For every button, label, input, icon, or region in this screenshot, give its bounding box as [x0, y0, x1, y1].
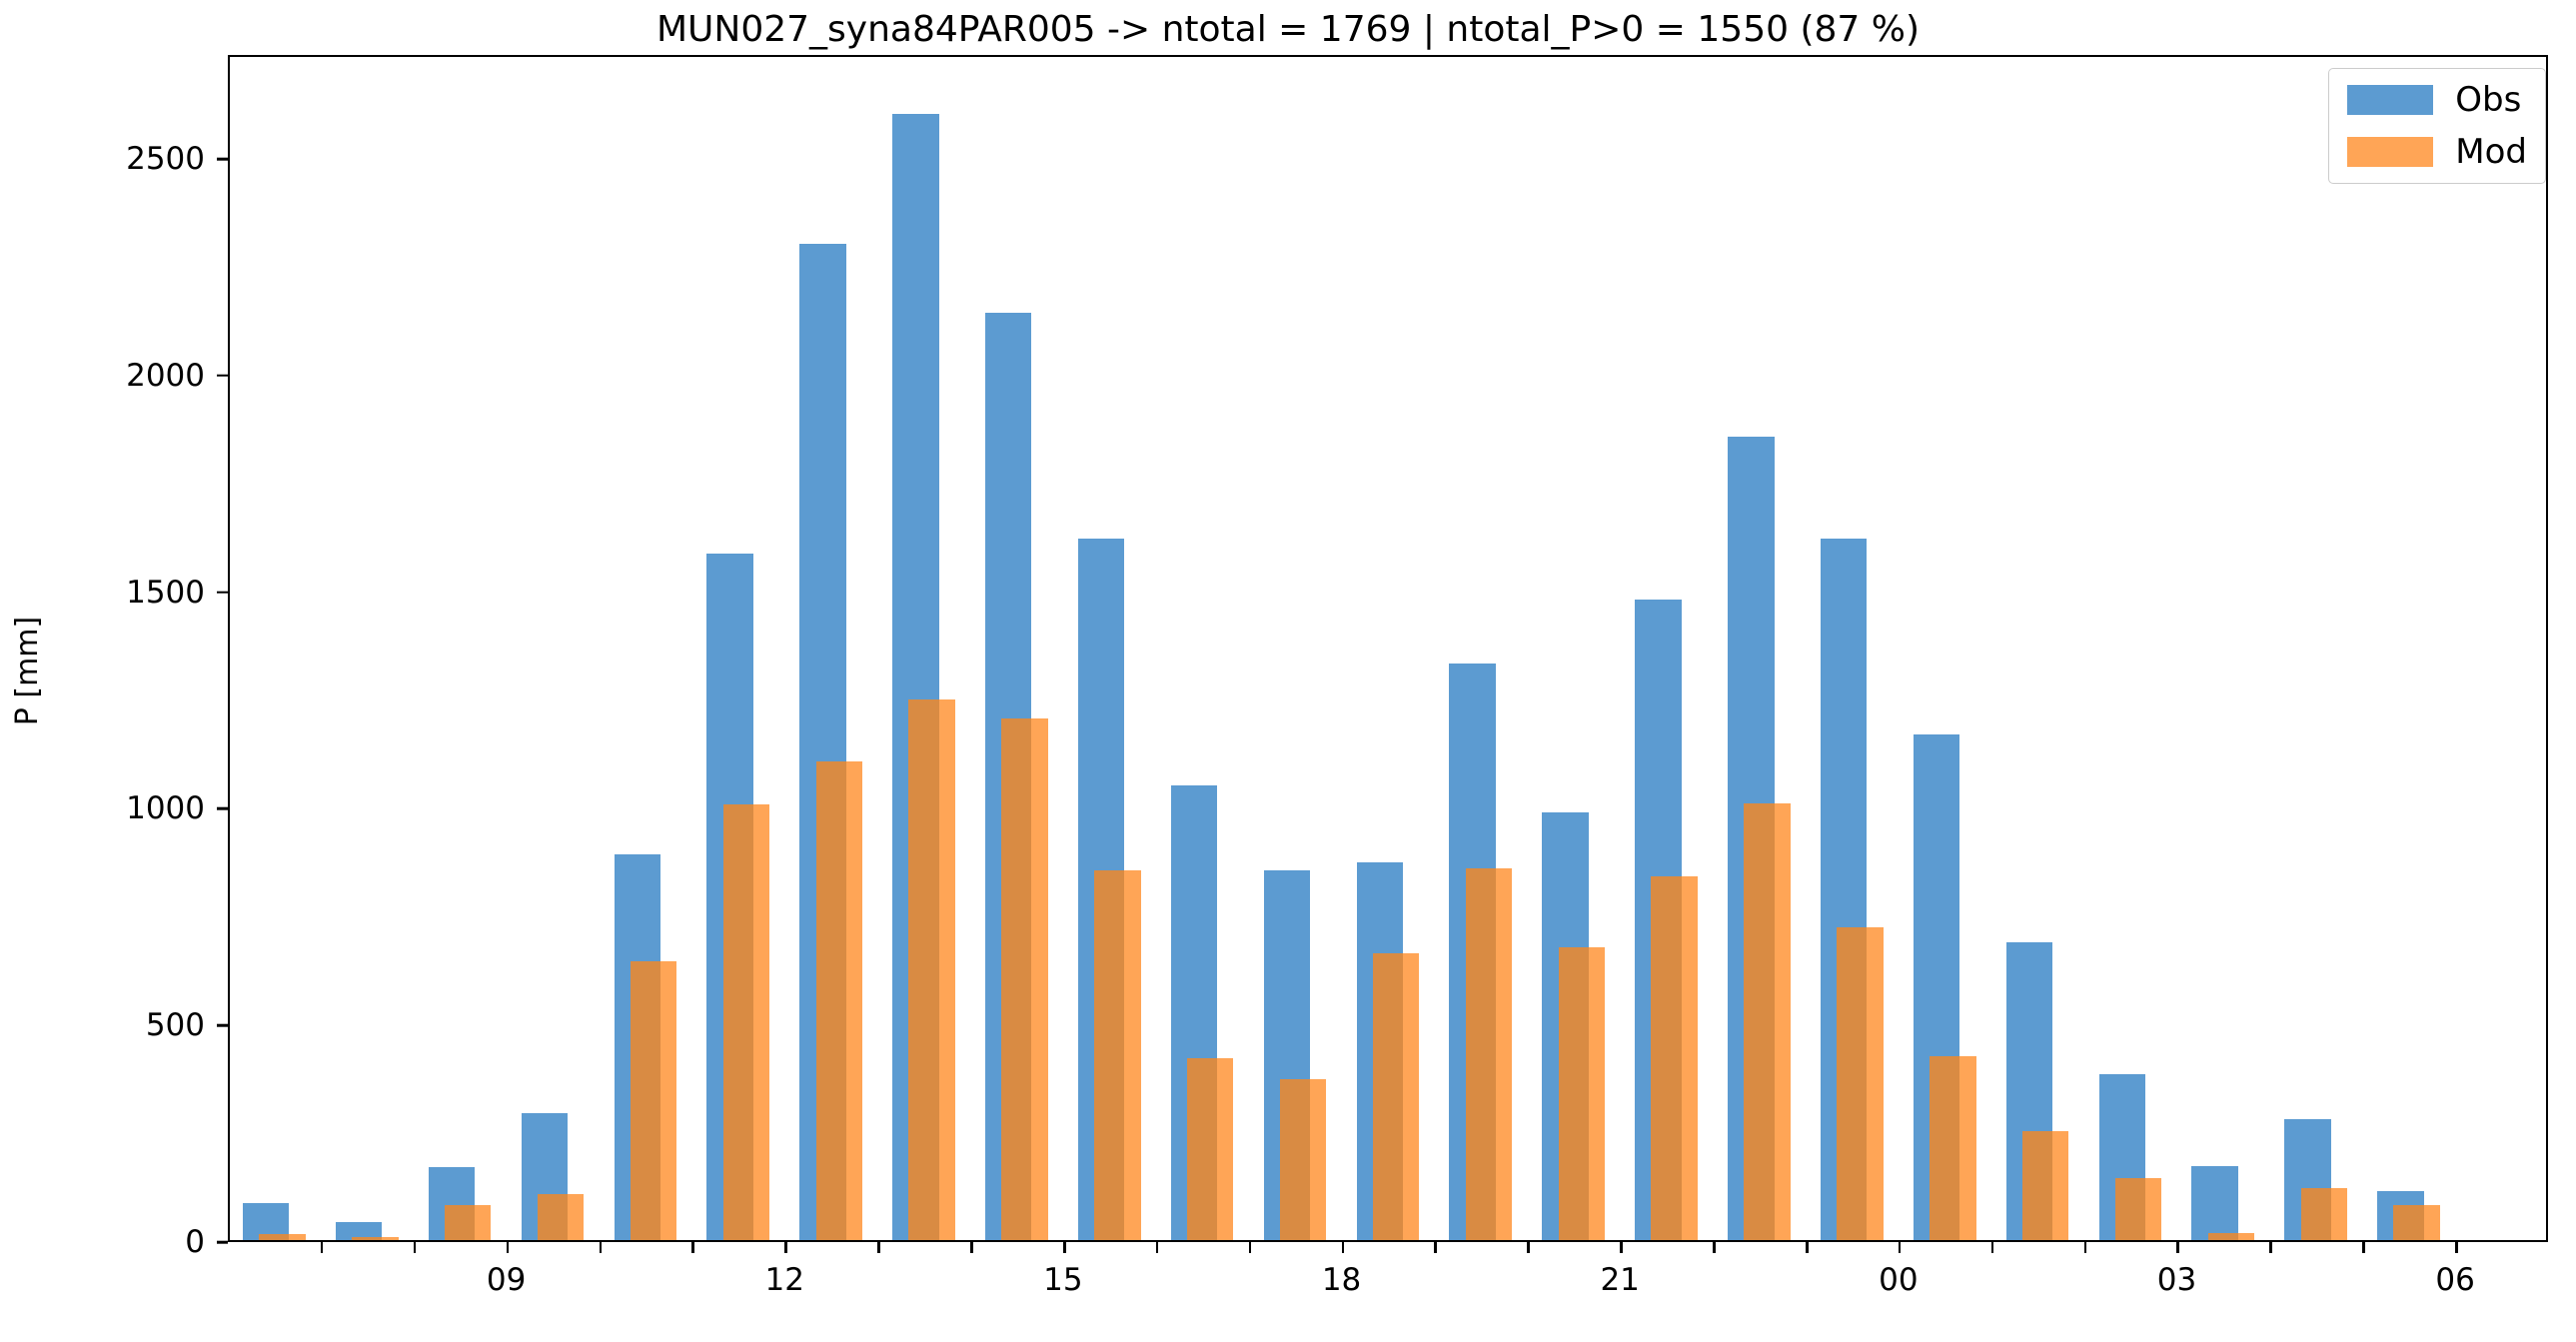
bar-overlap-11 — [1187, 1058, 1217, 1240]
x-tick-mark — [691, 1242, 694, 1253]
bar-obs-22 — [2191, 1166, 2237, 1240]
bar-overlap-14 — [1466, 868, 1496, 1240]
plot-area — [228, 55, 2548, 1242]
x-tick-label: 15 — [1003, 1262, 1123, 1298]
legend-swatch-mod — [2347, 137, 2433, 167]
x-tick-label: 21 — [1560, 1262, 1680, 1298]
x-tick-mark — [1806, 1242, 1809, 1253]
bar-overlap-21 — [2115, 1178, 2145, 1240]
legend-item-mod[interactable]: Mod — [2347, 135, 2527, 169]
y-axis-label: P [mm] — [8, 0, 48, 1342]
bar-overlap-17 — [1744, 803, 1774, 1240]
bar-overlap-19 — [1930, 1056, 1959, 1240]
x-tick-mark — [2176, 1242, 2179, 1253]
x-tick-mark — [1713, 1242, 1716, 1253]
x-tick-mark — [600, 1242, 603, 1253]
chart-title: MUN027_syna84PAR005 -> ntotal = 1769 | n… — [0, 8, 2576, 52]
bar-overlap-20 — [2022, 1131, 2052, 1240]
bar-overlap-18 — [1837, 927, 1867, 1240]
x-tick-mark — [414, 1242, 417, 1253]
bar-overlap-6 — [723, 804, 753, 1240]
x-tick-label: 00 — [1839, 1262, 1958, 1298]
y-tick-label: 2500 — [45, 141, 205, 177]
y-tick-mark — [217, 1024, 228, 1027]
x-tick-mark — [1899, 1242, 1902, 1253]
x-tick-mark — [321, 1242, 324, 1253]
bar-overlap-23 — [2301, 1188, 2331, 1240]
x-tick-mark — [1249, 1242, 1252, 1253]
x-tick-mark — [1620, 1242, 1623, 1253]
legend-label-mod: Mod — [2455, 135, 2527, 169]
legend-item-obs[interactable]: Obs — [2347, 83, 2527, 117]
bar-overlap-8 — [908, 699, 938, 1240]
y-tick-mark — [217, 158, 228, 161]
x-tick-label: 06 — [2395, 1262, 2515, 1298]
x-tick-mark — [877, 1242, 880, 1253]
bar-overlap-3 — [445, 1205, 475, 1240]
legend[interactable]: Obs Mod — [2328, 68, 2546, 184]
y-tick-mark — [217, 1241, 228, 1244]
x-tick-mark — [1527, 1242, 1530, 1253]
y-tick-label: 2000 — [45, 358, 205, 394]
bar-overlap-12 — [1280, 1079, 1310, 1240]
x-tick-mark — [2455, 1242, 2458, 1253]
x-tick-label: 03 — [2116, 1262, 2236, 1298]
x-tick-label: 12 — [724, 1262, 844, 1298]
y-tick-mark — [217, 375, 228, 378]
bar-overlap-13 — [1373, 953, 1403, 1240]
legend-swatch-obs — [2347, 85, 2433, 115]
y-axis-label-text: P [mm] — [11, 617, 46, 725]
y-tick-mark — [217, 591, 228, 594]
figure-canvas: MUN027_syna84PAR005 -> ntotal = 1769 | n… — [0, 0, 2576, 1342]
x-tick-mark — [507, 1242, 510, 1253]
x-tick-label: 09 — [447, 1262, 567, 1298]
x-tick-mark — [1063, 1242, 1066, 1253]
bar-overlap-1 — [259, 1234, 289, 1240]
bar-overlap-15 — [1559, 947, 1589, 1240]
y-tick-label: 1500 — [45, 575, 205, 611]
bar-overlap-5 — [631, 961, 660, 1240]
bar-overlap-9 — [1001, 718, 1031, 1240]
bar-overlap-16 — [1651, 876, 1681, 1240]
x-tick-mark — [1991, 1242, 1994, 1253]
bar-overlap-10 — [1094, 870, 1124, 1240]
y-tick-label: 0 — [45, 1224, 205, 1260]
legend-label-obs: Obs — [2455, 83, 2521, 117]
y-tick-label: 1000 — [45, 790, 205, 826]
bar-overlap-7 — [816, 761, 846, 1240]
x-tick-mark — [2269, 1242, 2272, 1253]
bar-overlap-24 — [2393, 1205, 2423, 1240]
x-tick-mark — [970, 1242, 973, 1253]
y-tick-mark — [217, 807, 228, 810]
y-tick-label: 500 — [45, 1007, 205, 1043]
bar-overlap-22 — [2208, 1233, 2238, 1240]
x-tick-mark — [1434, 1242, 1437, 1253]
x-tick-label: 18 — [1282, 1262, 1402, 1298]
bars-layer — [230, 57, 2546, 1240]
x-tick-mark — [2362, 1242, 2365, 1253]
x-tick-mark — [784, 1242, 787, 1253]
x-tick-mark — [1156, 1242, 1159, 1253]
bar-overlap-4 — [538, 1194, 568, 1240]
x-tick-mark — [1342, 1242, 1345, 1253]
bar-overlap-2 — [352, 1237, 382, 1240]
x-tick-mark — [2084, 1242, 2087, 1253]
